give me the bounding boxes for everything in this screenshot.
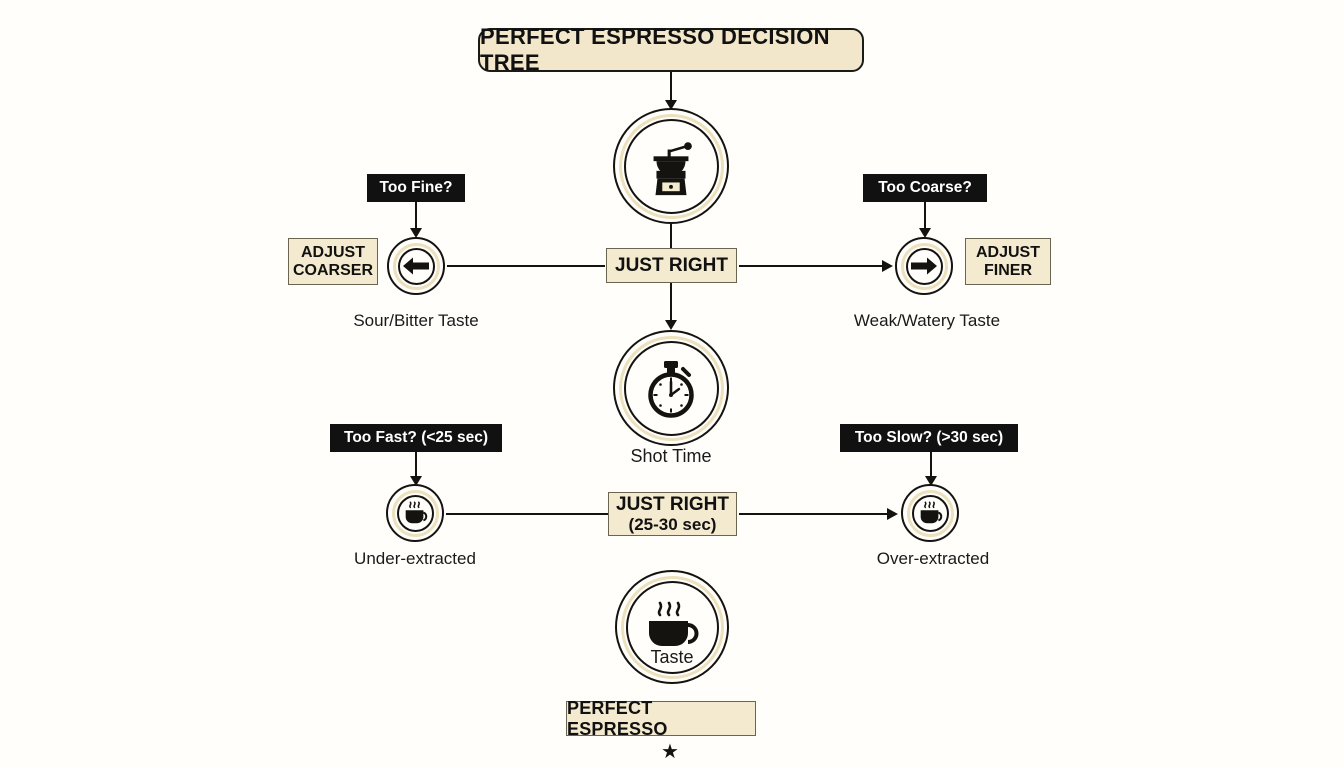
condition-too-coarse-text: Too Coarse? (878, 179, 972, 197)
node-core (397, 495, 434, 532)
coffee-cup-icon (915, 499, 945, 527)
node-inner-ring (393, 243, 440, 290)
grind-right-node[interactable] (895, 237, 953, 295)
action-adjust-coarser-line1: ADJUST (301, 244, 365, 262)
caption-weak-watery-taste: Weak/Watery Taste (827, 311, 1027, 331)
node-inner-ring (901, 243, 948, 290)
grind-just-right-box[interactable]: JUST RIGHT (606, 248, 737, 283)
time-stage-icon-node[interactable] (613, 330, 729, 446)
node-core (912, 495, 949, 532)
action-adjust-coarser[interactable]: ADJUST COARSER (288, 238, 378, 285)
action-adjust-finer-line1: ADJUST (976, 244, 1040, 262)
time-just-right-box[interactable]: JUST RIGHT (25-30 sec) (608, 492, 737, 536)
caption-over-extracted: Over-extracted (843, 549, 1023, 569)
coffee-grinder-icon (640, 135, 702, 197)
connector-too-fast-to-node (415, 452, 417, 478)
connector-title-to-grinder (670, 72, 672, 102)
grind-stage-icon-node[interactable] (613, 108, 729, 224)
caption-taste: Taste (592, 647, 752, 668)
condition-too-fast-text: Too Fast? (<25 sec) (344, 429, 488, 447)
result-perfect-espresso-text: PERFECT ESPRESSO (567, 698, 755, 738)
connector-too-slow-to-node (930, 452, 932, 478)
action-adjust-finer-line2: FINER (984, 262, 1032, 280)
coffee-cup-icon (400, 499, 430, 527)
time-left-node[interactable] (386, 484, 444, 542)
condition-too-slow[interactable]: Too Slow? (>30 sec) (840, 424, 1018, 452)
diagram-title-text: PERFECT ESPRESSO DECISION TREE (480, 24, 862, 76)
condition-too-slow-text: Too Slow? (>30 sec) (855, 429, 1003, 447)
caption-under-extracted: Under-extracted (325, 549, 505, 569)
condition-too-fine-text: Too Fine? (380, 179, 453, 197)
diagram-canvas: PERFECT ESPRESSO DECISION TREE (0, 0, 1344, 768)
connector-grinder-to-just-right (670, 224, 672, 248)
star-icon: ★ (630, 742, 710, 762)
connector-just-right-to-right-cup (739, 513, 889, 515)
connector-just-right-to-right-node (739, 265, 884, 267)
node-inner-ring (619, 336, 724, 441)
node-inner-ring (907, 490, 954, 537)
node-core (624, 119, 719, 214)
action-adjust-coarser-line2: COARSER (293, 262, 373, 280)
condition-too-coarse[interactable]: Too Coarse? (863, 174, 987, 202)
connector-too-fine-to-node (415, 202, 417, 230)
grind-left-node[interactable] (387, 237, 445, 295)
arrowhead-to-right-cup (887, 508, 898, 520)
arrowhead-to-right-node (882, 260, 893, 272)
condition-too-fast[interactable]: Too Fast? (<25 sec) (330, 424, 502, 452)
result-perfect-espresso[interactable]: PERFECT ESPRESSO (566, 701, 756, 736)
arrow-right-icon (909, 254, 939, 278)
connector-too-coarse-to-node (924, 202, 926, 230)
caption-sour-bitter-taste: Sour/Bitter Taste (316, 311, 516, 331)
node-inner-ring (619, 114, 724, 219)
diagram-title-box: PERFECT ESPRESSO DECISION TREE (478, 28, 864, 72)
connector-left-cup-to-just-right (446, 513, 608, 515)
time-just-right-line1: JUST RIGHT (616, 494, 729, 515)
time-just-right-line2: (25-30 sec) (629, 515, 717, 534)
caption-shot-time: Shot Time (585, 446, 757, 467)
condition-too-fine[interactable]: Too Fine? (367, 174, 465, 202)
node-core (906, 248, 943, 285)
arrow-left-icon (401, 254, 431, 278)
time-right-node[interactable] (901, 484, 959, 542)
action-adjust-finer[interactable]: ADJUST FINER (965, 238, 1051, 285)
node-inner-ring (392, 490, 439, 537)
connector-just-right-to-stopwatch (670, 283, 672, 321)
grind-just-right-text: JUST RIGHT (615, 255, 728, 276)
arrowhead-to-stopwatch (665, 320, 677, 330)
stopwatch-icon (639, 356, 703, 420)
node-core (624, 341, 719, 436)
connector-left-node-to-just-right (447, 265, 605, 267)
node-core (398, 248, 435, 285)
